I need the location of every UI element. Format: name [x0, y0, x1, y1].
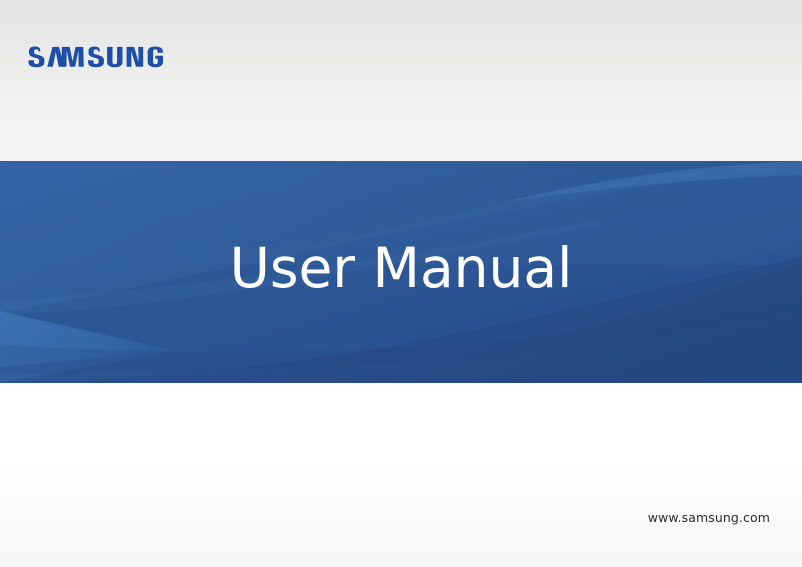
user-manual-cover-page: User Manual www.samsung.com	[0, 0, 802, 567]
footer-area: www.samsung.com	[0, 383, 802, 567]
page-title: User Manual	[0, 161, 802, 383]
samsung-wordmark-icon	[28, 44, 178, 70]
header-band	[0, 0, 802, 161]
website-url[interactable]: www.samsung.com	[648, 510, 770, 525]
hero-banner: User Manual	[0, 161, 802, 383]
